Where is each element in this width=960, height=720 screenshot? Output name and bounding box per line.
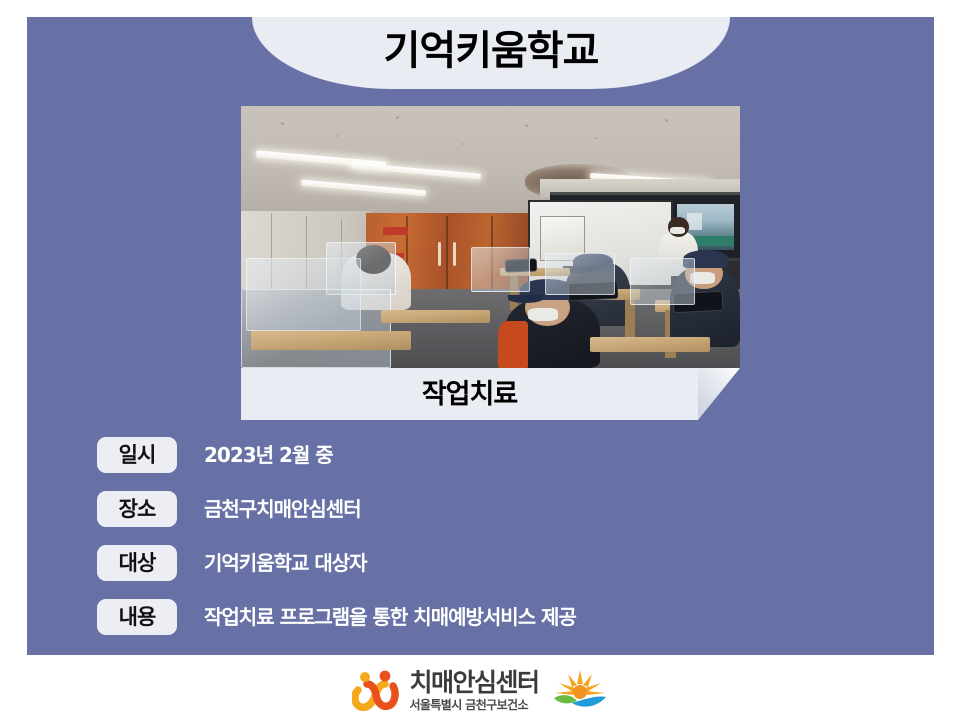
acrylic-partition: [241, 289, 391, 368]
ceiling-speck: [336, 135, 338, 137]
info-label-target-text: 대상: [119, 553, 156, 574]
logo-main-text: 치매안심센터: [409, 670, 538, 695]
desk-leg: [625, 300, 635, 342]
instructor-mask: [670, 227, 685, 235]
page-title: 기억키움학교: [384, 31, 599, 71]
logo-sub-text: 서울특별시 금천구보건소: [409, 699, 538, 711]
info-label-content: 내용: [97, 599, 177, 635]
logo-group: 치매안심센터 서울특별시 금천구보건소: [352, 668, 607, 712]
photo-scene: [241, 106, 740, 368]
info-label-place: 장소: [97, 491, 177, 527]
logo-wordmark: 치매안심센터 서울특별시 금천구보건소: [409, 670, 538, 711]
info-label-date-text: 일시: [119, 445, 156, 466]
info-row-target: 대상 기억키움학교 대상자: [97, 536, 877, 590]
info-label-place-text: 장소: [119, 499, 156, 520]
window-building: [687, 213, 703, 230]
photo-caption: 작업치료: [241, 368, 698, 420]
acrylic-partition: [545, 253, 615, 295]
sunflower-emblem-icon: [552, 668, 608, 712]
desk: [381, 310, 491, 323]
page-fold-corner: [698, 368, 740, 420]
acrylic-partition: [326, 242, 396, 294]
cabinet-handle: [438, 242, 441, 266]
info-value-target: 기억키움학교 대상자: [204, 553, 367, 573]
info-value-place: 금천구치매안심센터: [204, 499, 361, 519]
ceiling-speck: [461, 143, 463, 145]
desk-foreground: [251, 331, 411, 349]
acrylic-partition: [630, 258, 695, 305]
wall-sign: [383, 227, 408, 235]
participant-mask: [528, 308, 558, 321]
info-row-place: 장소 금천구치매안심센터: [97, 482, 877, 536]
info-value-date: 2023년 2월 중: [204, 445, 333, 465]
participant-sleeve: [498, 321, 528, 368]
info-list: 일시 2023년 2월 중 장소 금천구치매안심센터 대상 기억키움학교 대상자…: [97, 428, 877, 644]
info-row-content: 내용 작업치료 프로그램을 통한 치매예방서비스 제공: [97, 590, 877, 644]
info-row-date: 일시 2023년 2월 중: [97, 428, 877, 482]
info-label-content-text: 내용: [119, 607, 156, 628]
ceiling-speck: [281, 122, 284, 125]
cap-brim: [508, 295, 543, 303]
two-people-icon: [352, 668, 400, 712]
info-label-date: 일시: [97, 437, 177, 473]
page-fold-triangle: [698, 368, 740, 420]
photo-caption-text: 작업치료: [422, 381, 517, 408]
title-banner: 기억키움학교: [252, 17, 730, 89]
slide-canvas: 기억키움학교: [0, 0, 960, 720]
desk-foreground: [590, 337, 710, 353]
footer-logo-bar: 치매안심센터 서울특별시 금천구보건소: [0, 660, 960, 720]
cabinet-handle: [453, 242, 456, 266]
info-label-target: 대상: [97, 545, 177, 581]
info-value-content: 작업치료 프로그램을 통한 치매예방서비스 제공: [204, 607, 576, 627]
acrylic-partition: [471, 247, 531, 292]
activity-photo: [241, 106, 740, 368]
